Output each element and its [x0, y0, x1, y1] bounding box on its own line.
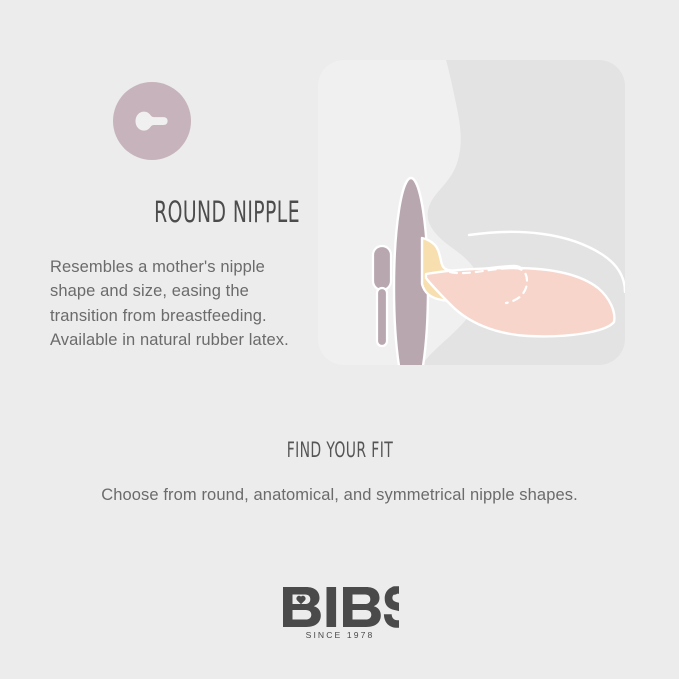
product-feature-page: ROUND NIPPLE Resembles a mother's nipple…	[0, 0, 679, 679]
find-your-fit-title: FIND YOUR FIT	[286, 440, 392, 461]
feature-title: ROUND NIPPLE	[119, 198, 300, 227]
find-your-fit-subtitle: Choose from round, anatomical, and symme…	[0, 484, 679, 507]
feature-description: Resembles a mother's nipple shape and si…	[50, 255, 300, 352]
find-your-fit-title-wrapper: FIND YOUR FIT	[0, 440, 679, 462]
brand-logo: R SINCE 1978	[0, 584, 679, 645]
brand-tagline: SINCE 1978	[305, 630, 374, 640]
svg-text:R: R	[392, 589, 396, 595]
illustration-card	[318, 60, 625, 365]
bibs-logo-mark: R SINCE 1978	[281, 584, 399, 640]
feature-description-block: ROUND NIPPLE Resembles a mother's nipple…	[48, 82, 300, 352]
baby-mouth-pacifier-illustration	[318, 60, 625, 365]
round-nipple-shape-icon	[113, 82, 191, 160]
find-your-fit-section: FIND YOUR FIT Choose from round, anatomi…	[0, 440, 679, 507]
pacifier-handle	[373, 246, 391, 346]
